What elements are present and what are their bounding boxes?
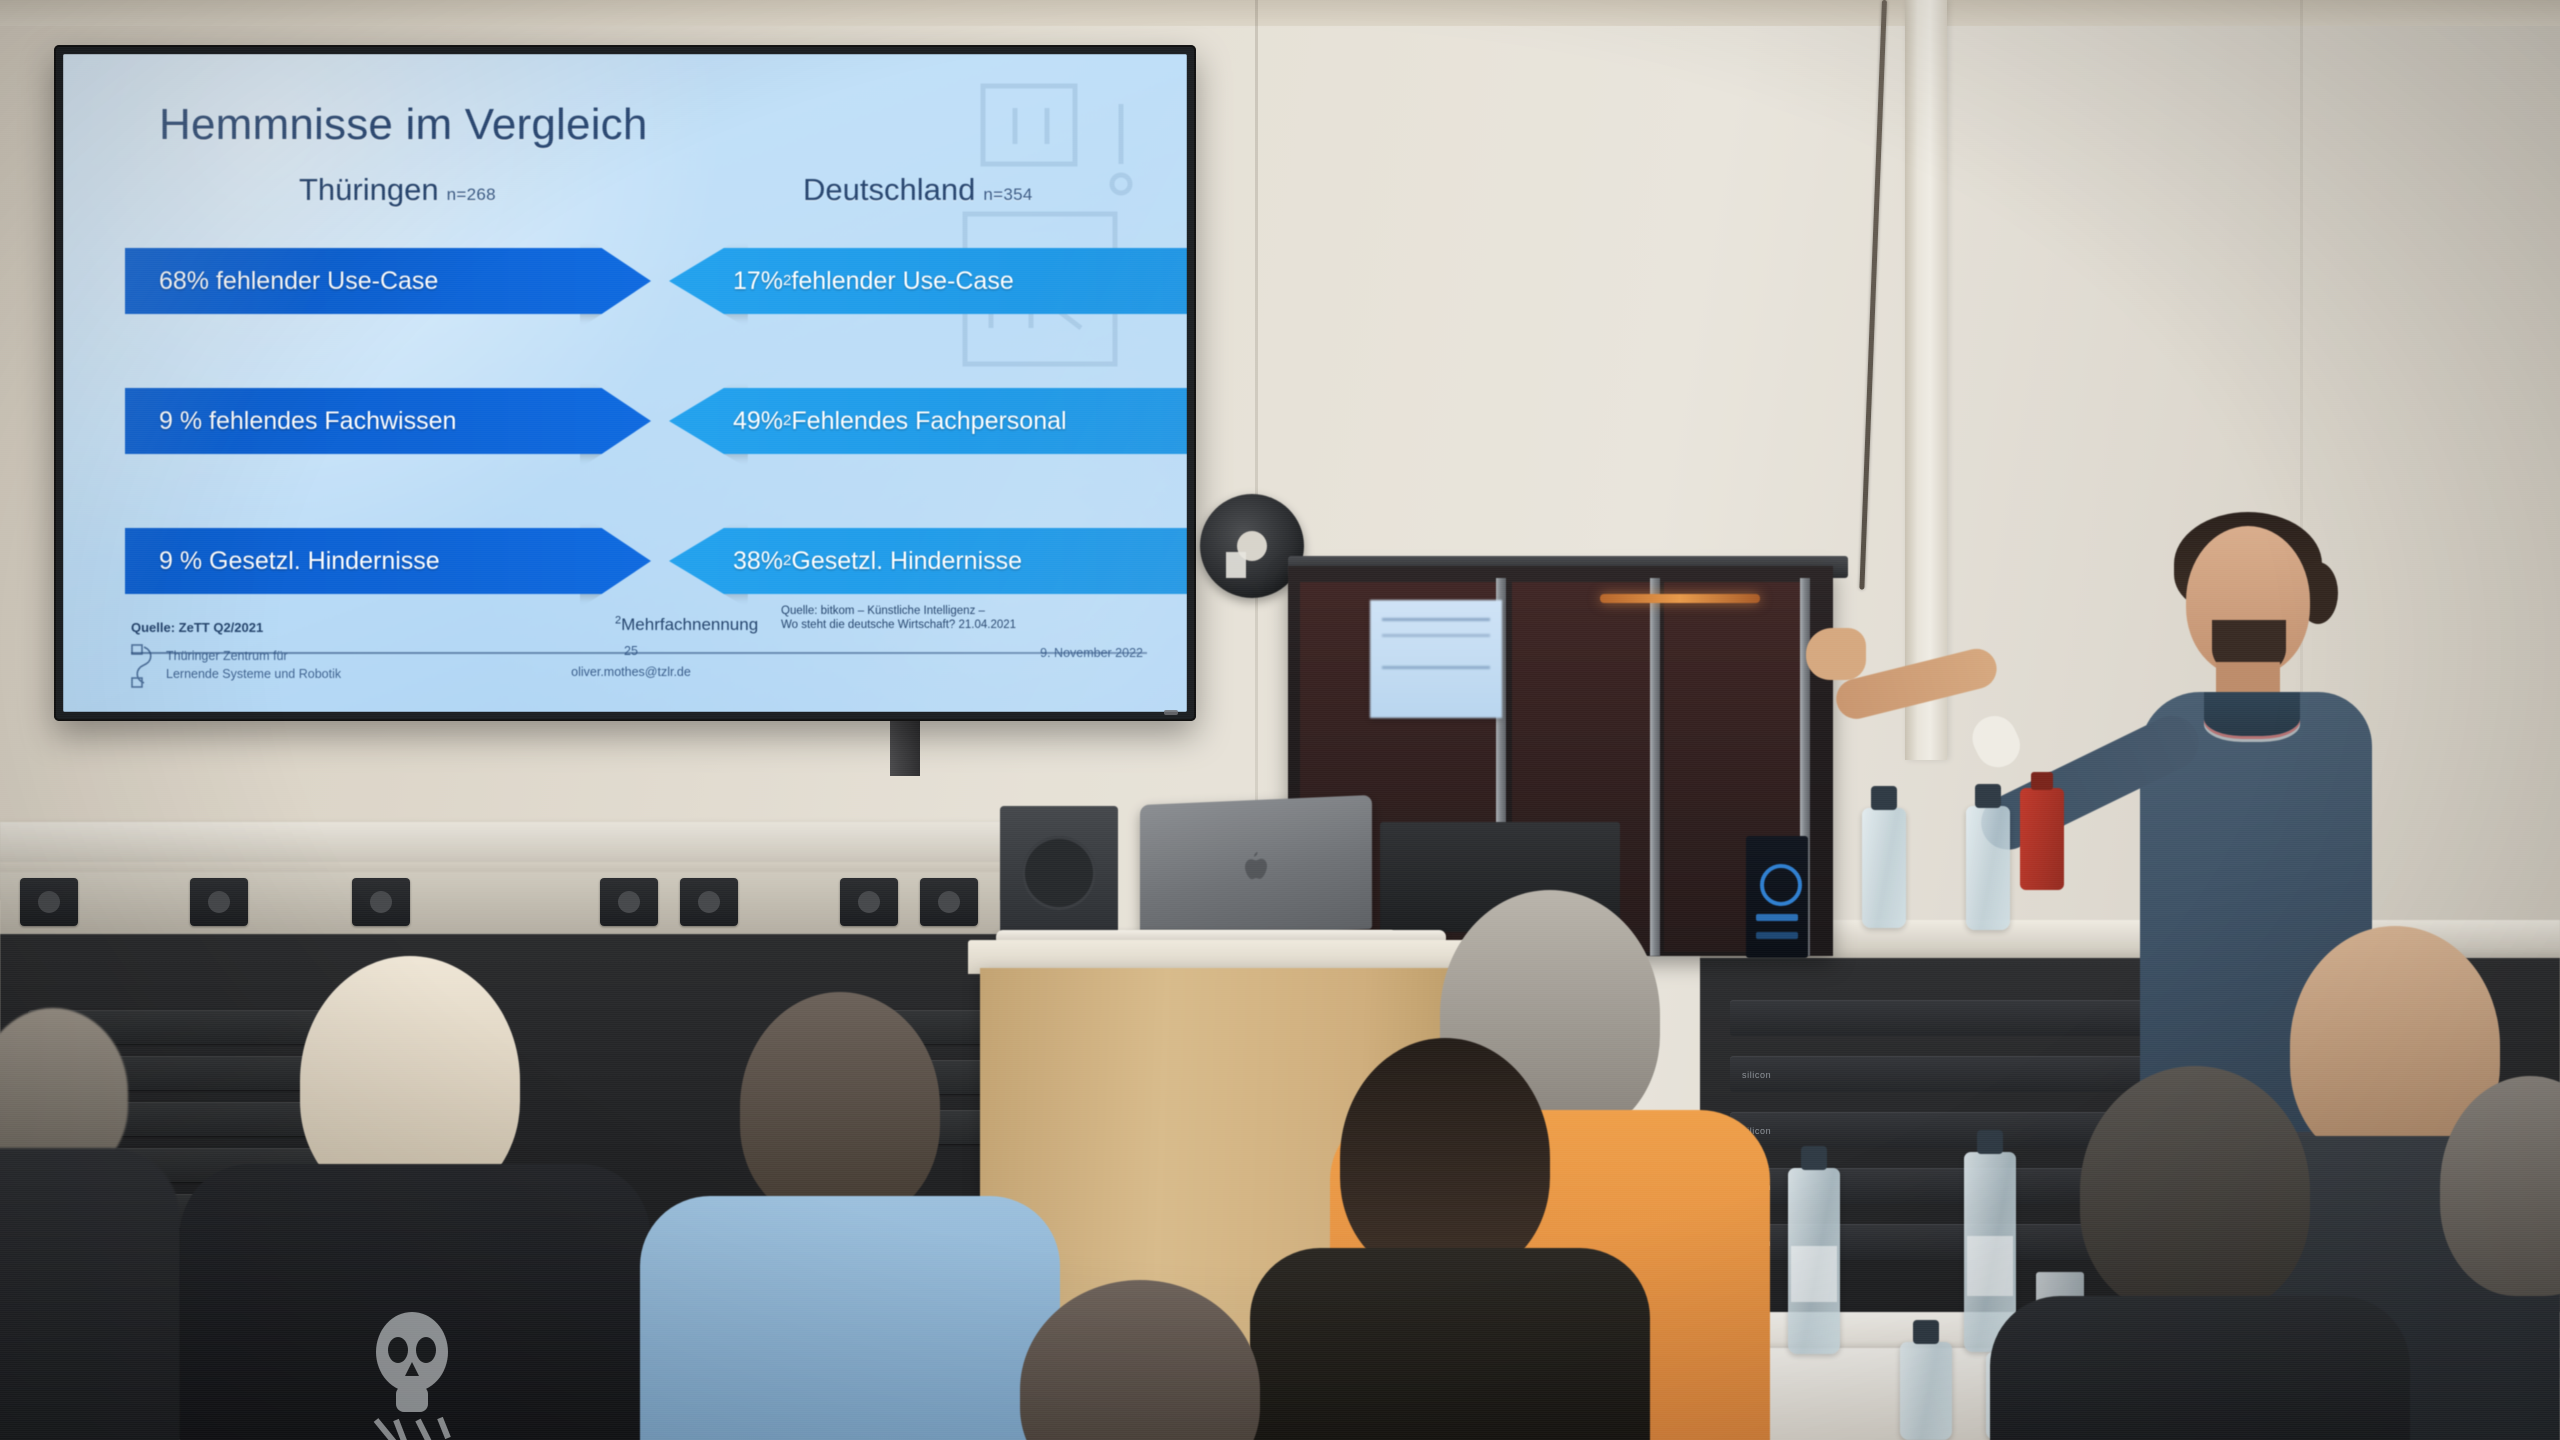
bottle-label: [1967, 1236, 2013, 1296]
contact-email: oliver.mothes@tzlr.de: [571, 665, 691, 679]
bottle-cap: [1975, 784, 2001, 808]
power-socket[interactable]: [352, 878, 410, 926]
power-socket[interactable]: [840, 878, 898, 926]
bottle-cap: [1353, 1370, 1379, 1394]
organization-name-line1: Thüringer Zentrum für: [166, 648, 341, 666]
cabinet-drawer[interactable]: [28, 1102, 428, 1136]
printer-status-icon: [1760, 864, 1802, 906]
water-bottle-tall: [1966, 806, 2010, 930]
printer-control-panel[interactable]: [1746, 836, 1808, 958]
wall-column: [1905, 0, 1947, 760]
cabinet-drawer[interactable]: [28, 1148, 428, 1182]
arrow-value-right: 38%: [733, 547, 783, 576]
slide-date: 9. November 2022: [1040, 646, 1143, 660]
water-bottle: [1788, 1168, 1840, 1354]
monitor-back: [1380, 822, 1620, 932]
footnote-source-right-line1: Quelle: bitkom – Künstliche Intelligenz …: [781, 604, 1081, 618]
drawer-label: silicon: [1742, 1126, 1771, 1136]
column-name-left: Thüringen: [299, 172, 439, 207]
bottle-cap: [1801, 1146, 1827, 1170]
presenter-legs: [2164, 1132, 2350, 1312]
slide-footer-center: 25 oliver.mothes@tzlr.de: [571, 644, 691, 679]
comparison-rows: 68% fehlender Use-Case 17%2 fehlender Us…: [109, 234, 1155, 654]
column-sample-right: n=354: [983, 185, 1032, 204]
bottle-cap: [1999, 1330, 2025, 1354]
water-bottle: [1964, 1152, 2016, 1352]
power-socket[interactable]: [920, 878, 978, 926]
presenter-polo-collar: [2204, 692, 2300, 736]
notice-line: [1382, 618, 1490, 621]
arrow-bar-left: 9 % Gesetzl. Hindernisse: [125, 528, 651, 594]
bottle-cap: [1913, 1320, 1939, 1344]
presenter-hand: [1806, 628, 1866, 680]
column-heading-right: Deutschlandn=354: [803, 172, 1033, 208]
column-headings: Thüringenn=268 Deutschlandn=354: [63, 172, 1187, 218]
apple-logo-icon: [1243, 851, 1269, 882]
water-bottle: [1986, 1352, 2038, 1440]
organization-name: Thüringer Zentrum für Lernende Systeme u…: [166, 648, 341, 684]
footnote-multi-text: Mehrfachnennung: [621, 615, 758, 634]
cabinet-drawer[interactable]: [28, 1056, 428, 1090]
arrow-bar-right: 17%2 fehlender Use-Case: [669, 248, 1187, 314]
comparison-row: 68% fehlender Use-Case 17%2 fehlender Us…: [109, 234, 1155, 350]
printer-heater-bar: [1600, 594, 1760, 603]
bottle-cap: [1871, 786, 1897, 810]
arrow-bar-right: 49%2 Fehlendes Fachpersonal: [669, 388, 1187, 454]
presenter: [2090, 516, 2420, 1216]
notice-line: [1382, 666, 1490, 669]
comparison-row: 9 % fehlendes Fachwissen 49%2 Fehlendes …: [109, 374, 1155, 490]
power-socket[interactable]: [680, 878, 738, 926]
footnote-source-right: Quelle: bitkom – Künstliche Intelligenz …: [781, 604, 1081, 633]
organization-name-line2: Lernende Systeme und Robotik: [166, 666, 341, 684]
wall-display[interactable]: Hemmnisse im Vergleich Thüringenn=268 De…: [54, 45, 1196, 721]
bottle-cap: [2031, 772, 2053, 790]
arrow-label-right: fehlender Use-Case: [791, 267, 1013, 296]
footnote-source-right-line2: Wo steht die deutsche Wirtschaft? 21.04.…: [781, 618, 1081, 632]
cabinet-drawer[interactable]: [28, 1010, 428, 1044]
printer-panel-bar: [1756, 914, 1798, 921]
bottle-cap: [1977, 1130, 2003, 1154]
lectern: [980, 968, 1500, 1368]
footnote-source-left: Quelle: ZeTT Q2/2021: [131, 620, 263, 636]
printer-notice-sheet: [1370, 600, 1502, 718]
slide-number: 25: [571, 644, 691, 658]
power-socket[interactable]: [600, 878, 658, 926]
tzlr-logo-icon: [131, 644, 157, 688]
drinking-glass: [2036, 1272, 2084, 1334]
bottle-label: [1791, 1246, 1837, 1302]
notice-line: [1382, 634, 1490, 637]
column-sample-left: n=268: [447, 185, 496, 204]
organization-logo: Thüringer Zentrum für Lernende Systeme u…: [131, 644, 341, 688]
printer-frame-rail: [1650, 578, 1660, 956]
drawer-label: silicon: [1742, 1182, 1771, 1192]
laptop[interactable]: [1140, 795, 1372, 939]
display-panel: Hemmnisse im Vergleich Thüringenn=268 De…: [63, 54, 1187, 712]
arrow-bar-left: 9 % fehlendes Fachwissen: [125, 388, 651, 454]
arrow-bar-right: 38%2 Gesetzl. Hindernisse: [669, 528, 1187, 594]
arrow-label-right: Gesetzl. Hindernisse: [791, 547, 1022, 576]
water-bottle: [1340, 1392, 1392, 1440]
arrow-label-right: Fehlendes Fachpersonal: [791, 407, 1066, 436]
display-power-led-icon: [1164, 710, 1178, 715]
column-name-right: Deutschland: [803, 172, 975, 207]
arrow-value-right: 49%: [733, 407, 783, 436]
power-socket[interactable]: [20, 878, 78, 926]
arrow-bar-left: 68% fehlender Use-Case: [125, 248, 651, 314]
drawer-label: silicon: [1742, 1070, 1771, 1080]
column-heading-left: Thüringenn=268: [299, 172, 496, 208]
footnote-multi-mention: 2Mehrfachnennung: [615, 614, 758, 635]
ceiling-strip: [0, 0, 2560, 26]
presentation-slide: Hemmnisse im Vergleich Thüringenn=268 De…: [63, 54, 1187, 712]
drawer-label: silicon: [1742, 1238, 1771, 1248]
red-bottle: [2020, 788, 2064, 890]
slide-title: Hemmnisse im Vergleich: [159, 100, 648, 150]
desktop-speaker: [1000, 806, 1118, 934]
water-bottle-tall: [1862, 808, 1906, 928]
arrow-value-right: 17%: [733, 267, 783, 296]
power-socket[interactable]: [190, 878, 248, 926]
spool-label: [1226, 552, 1246, 578]
slide-footer: Thüringer Zentrum für Lernende Systeme u…: [109, 642, 1153, 694]
tv-stand: [890, 720, 920, 776]
printer-panel-bar: [1756, 932, 1798, 939]
water-bottle: [1900, 1342, 1952, 1440]
photo-scene: Hemmnisse im Vergleich Thüringenn=268 De…: [0, 0, 2560, 1440]
cabinet-drawer[interactable]: [28, 1194, 428, 1228]
